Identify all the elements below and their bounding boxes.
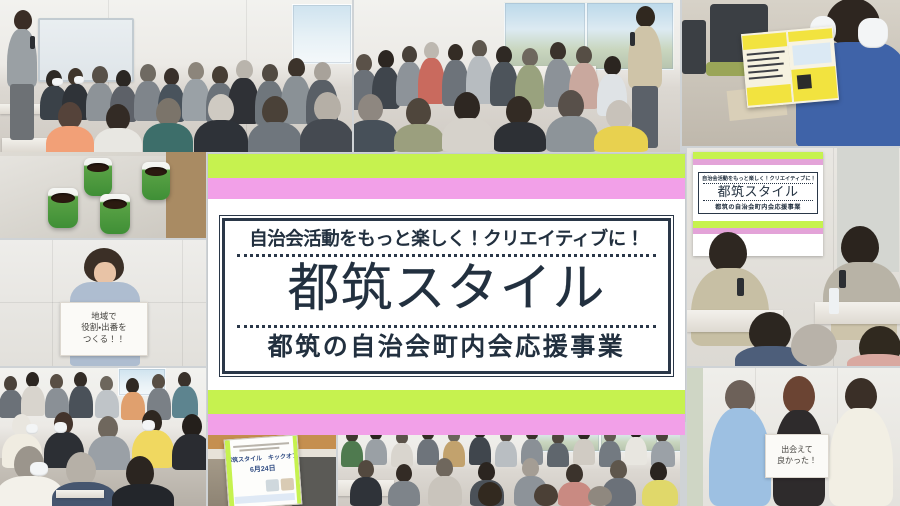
mini-poster-subtitle: 都筑の自治会町内会応援事業 — [702, 202, 814, 211]
handwritten-sign-right: 出会えて 良かった！ — [765, 434, 829, 478]
dotted-rule-upper — [237, 254, 656, 257]
title-card: 自治会活動をもっと楽しく！クリエイティブに！ 都筑スタイル 都筑の自治会町内会応… — [208, 154, 685, 421]
sign-line: つくる！！ — [61, 335, 147, 346]
coffee-cup — [100, 194, 130, 234]
photo-woman-sign: 地域で 役割・出番を つくる！！ — [0, 240, 206, 366]
handwritten-sign-left: 地域で 役割・出番を つくる！！ — [60, 302, 148, 356]
coffee-cup — [84, 158, 112, 196]
sign-line: 役割・出番を — [61, 323, 147, 334]
sign-line: 良かった！ — [766, 456, 828, 467]
tagline: 自治会活動をもっと楽しく！クリエイティブに！ — [235, 228, 658, 249]
coffee-cup — [48, 188, 78, 228]
photo-talk-session: 自治会活動をもっと楽しく！クリエイティブに！ 都筑スタイル 都筑の自治会町内会応… — [687, 148, 900, 366]
photo-standing-sign: 都筑スタイル キックオフセミナー 6月24日 — [208, 423, 336, 506]
mini-poster-tagline: 自治会活動をもっと楽しく！クリエイティブに！ — [702, 175, 814, 182]
stripe-green-bottom — [208, 390, 685, 414]
subtitle: 都筑の自治会町内会応援事業 — [235, 334, 658, 362]
stripe-pink-top — [208, 178, 685, 199]
stripe-green-top — [208, 154, 685, 178]
stripe-pink-bottom — [208, 414, 685, 435]
main-title: 都筑スタイル — [235, 259, 658, 322]
photo-reading-booklet — [682, 0, 900, 146]
tsuzuki-style-banner: 地域で 役割・出番を つくる！！ — [0, 0, 900, 506]
mini-poster-title: 都筑スタイル — [702, 185, 814, 199]
title-box: 自治会活動をもっと楽しく！クリエイティブに！ 都筑スタイル 都筑の自治会町内会応… — [222, 218, 671, 374]
photo-three-people: 出会えて 良かった！ — [687, 368, 900, 506]
photo-lecture-speaker — [0, 0, 352, 152]
sign-line: 出会えて — [766, 445, 828, 456]
sign-line: 地域で — [61, 312, 147, 323]
dotted-rule-lower — [237, 325, 656, 328]
photo-audience-window — [354, 0, 680, 152]
photo-coffee-cups — [0, 152, 206, 238]
coffee-cup — [142, 162, 170, 200]
photo-group-discussion — [0, 368, 206, 506]
kickoff-seminar-sign: 都筑スタイル キックオフセミナー 6月24日 — [224, 435, 303, 506]
